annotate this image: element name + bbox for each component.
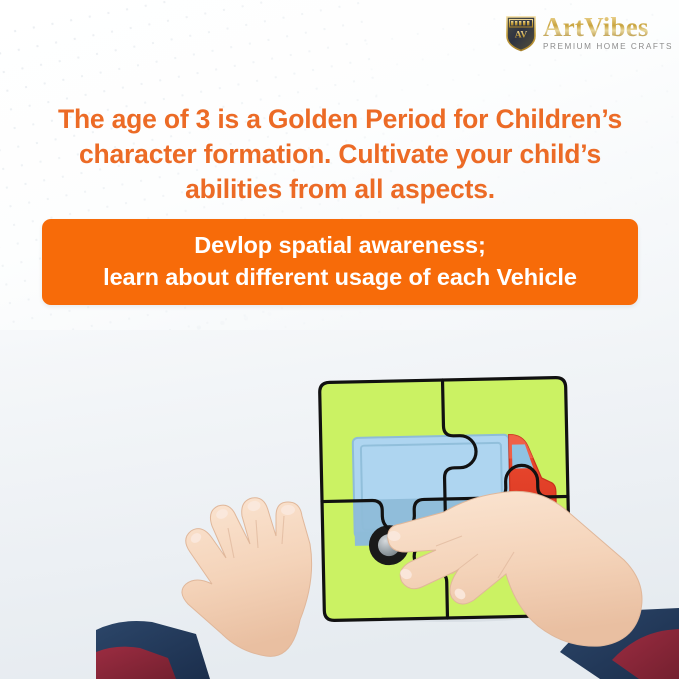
- headline-line-2: character formation. Cultivate your chil…: [44, 137, 636, 172]
- banner-line-2: learn about different usage of each Vehi…: [103, 262, 577, 294]
- shield-monogram: AV: [515, 31, 528, 41]
- shield-crest-icon: AV: [504, 14, 538, 52]
- brand-tagline: PREMIUM HOME CRAFTS: [543, 43, 673, 51]
- banner-line-1: Devlop spatial awareness;: [194, 230, 485, 262]
- headline-line-3: abilities from all aspects.: [44, 172, 636, 207]
- brand-name: ArtVibes: [543, 15, 673, 41]
- product-photo-scene: [0, 330, 679, 679]
- poster-canvas: AV ArtVibes PREMIUM HOME CRAFTS The age …: [0, 0, 679, 679]
- headline: The age of 3 is a Golden Period for Chil…: [44, 102, 636, 207]
- brand-logo: AV ArtVibes PREMIUM HOME CRAFTS: [504, 10, 670, 56]
- logo-text-block: ArtVibes PREMIUM HOME CRAFTS: [543, 15, 673, 52]
- feature-banner: Devlop spatial awareness; learn about di…: [42, 219, 638, 305]
- headline-line-1: The age of 3 is a Golden Period for Chil…: [44, 102, 636, 137]
